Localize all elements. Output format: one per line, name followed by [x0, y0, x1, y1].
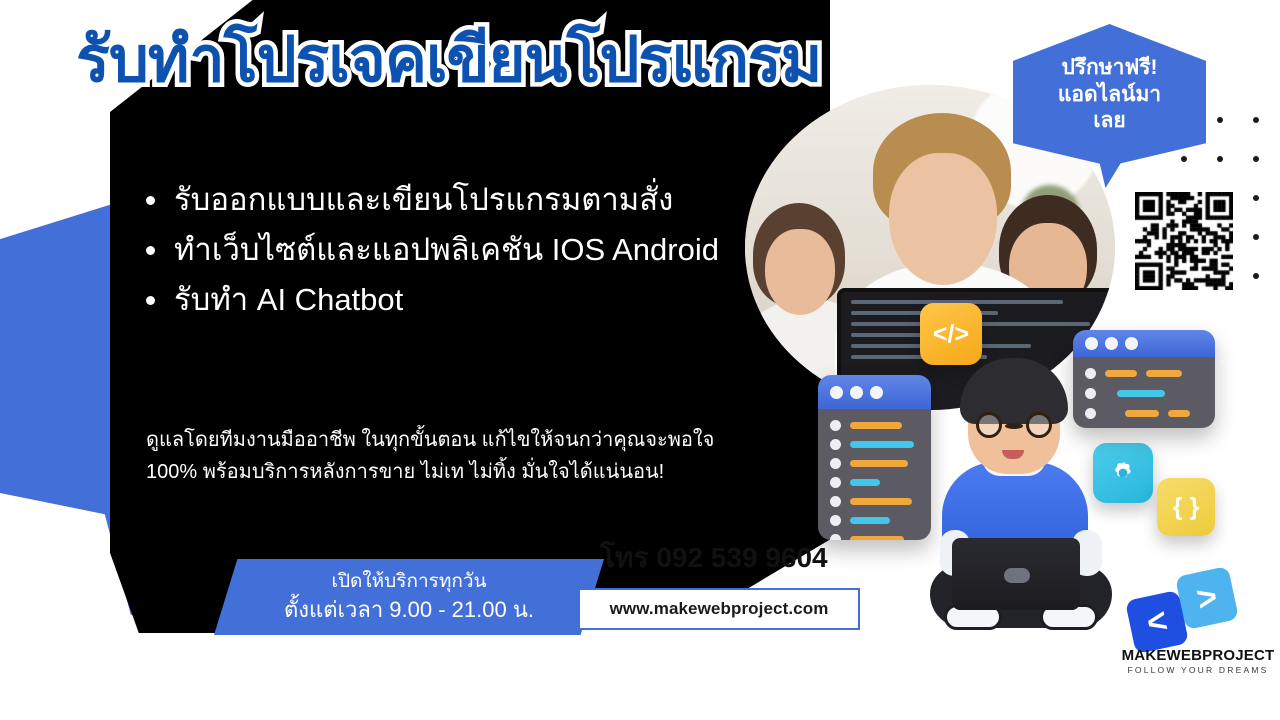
braces-icon: { }	[1157, 478, 1215, 536]
code-window-titlebar	[1073, 330, 1215, 357]
website-url-label: www.makewebproject.com	[610, 599, 829, 619]
code-tag-glyph: </>	[933, 320, 969, 349]
list-item-label: ทำเว็บไซต์และแอปพลิเคชัน IOS Android	[174, 228, 719, 272]
service-list: รับออกแบบและเขียนโปรแกรมตามสั่ง ทำเว็บไซ…	[146, 178, 746, 328]
logo-tagline: FOLLOW YOUR DREAMS	[1118, 665, 1278, 675]
website-url-box[interactable]: www.makewebproject.com	[578, 588, 860, 630]
code-window-tall	[818, 375, 931, 540]
badge-line-1: ปรึกษาฟรี!	[1061, 55, 1157, 81]
bullet-dot-icon	[146, 246, 155, 255]
character-laptop	[952, 538, 1080, 610]
list-item-label: รับออกแบบและเขียนโปรแกรมตามสั่ง	[174, 178, 673, 222]
glasses-icon	[972, 412, 1056, 438]
list-item-label: รับทำ AI Chatbot	[174, 278, 403, 322]
student-left-face	[765, 229, 835, 315]
qr-code-icon[interactable]	[1135, 192, 1233, 290]
braces-glyph: { }	[1173, 493, 1199, 522]
student-center-face	[889, 153, 997, 285]
code-window-body	[818, 409, 931, 540]
company-logo[interactable]: > < MAKEWEBPROJECT FOLLOW YOUR DREAMS	[1118, 565, 1278, 677]
laptop-trackpad	[1004, 568, 1030, 583]
free-consult-badge[interactable]: ปรึกษาฟรี! แอดไลน์มา เลย	[1013, 24, 1206, 166]
code-tag-icon: </>	[920, 303, 982, 365]
developer-character	[928, 358, 1114, 638]
logo-glyph-left: <	[1125, 590, 1189, 654]
page-title: รับทำโปรเจคเขียนโปรแกรม	[76, 24, 821, 96]
logo-brand-name: MAKEWEBPROJECT	[1118, 647, 1278, 664]
promo-banner: รับทำโปรเจคเขียนโปรแกรม รับออกแบบและเขีย…	[0, 0, 1280, 720]
description-paragraph: ดูแลโดยทีมงานมืออาชีพ ในทุกขั้นตอน แก้ไข…	[146, 424, 731, 489]
business-hours-banner: เปิดให้บริการทุกวัน ตั้งแต่เวลา 9.00 - 2…	[214, 559, 604, 635]
logo-glyph-right: >	[1175, 566, 1239, 630]
badge-line-3: เลย	[1093, 108, 1125, 134]
list-item: รับทำ AI Chatbot	[146, 278, 746, 322]
hours-line-1: เปิดให้บริการทุกวัน	[331, 569, 486, 595]
code-window-titlebar	[818, 375, 931, 409]
hours-line-2: ตั้งแต่เวลา 9.00 - 21.00 น.	[284, 595, 534, 625]
list-item: ทำเว็บไซต์และแอปพลิเคชัน IOS Android	[146, 228, 746, 272]
list-item: รับออกแบบและเขียนโปรแกรมตามสั่ง	[146, 178, 746, 222]
bullet-dot-icon	[146, 196, 155, 205]
bullet-dot-icon	[146, 296, 155, 305]
phone-number[interactable]: โทร 092 539 9604	[600, 536, 828, 580]
badge-line-2: แอดไลน์มา	[1058, 82, 1161, 108]
